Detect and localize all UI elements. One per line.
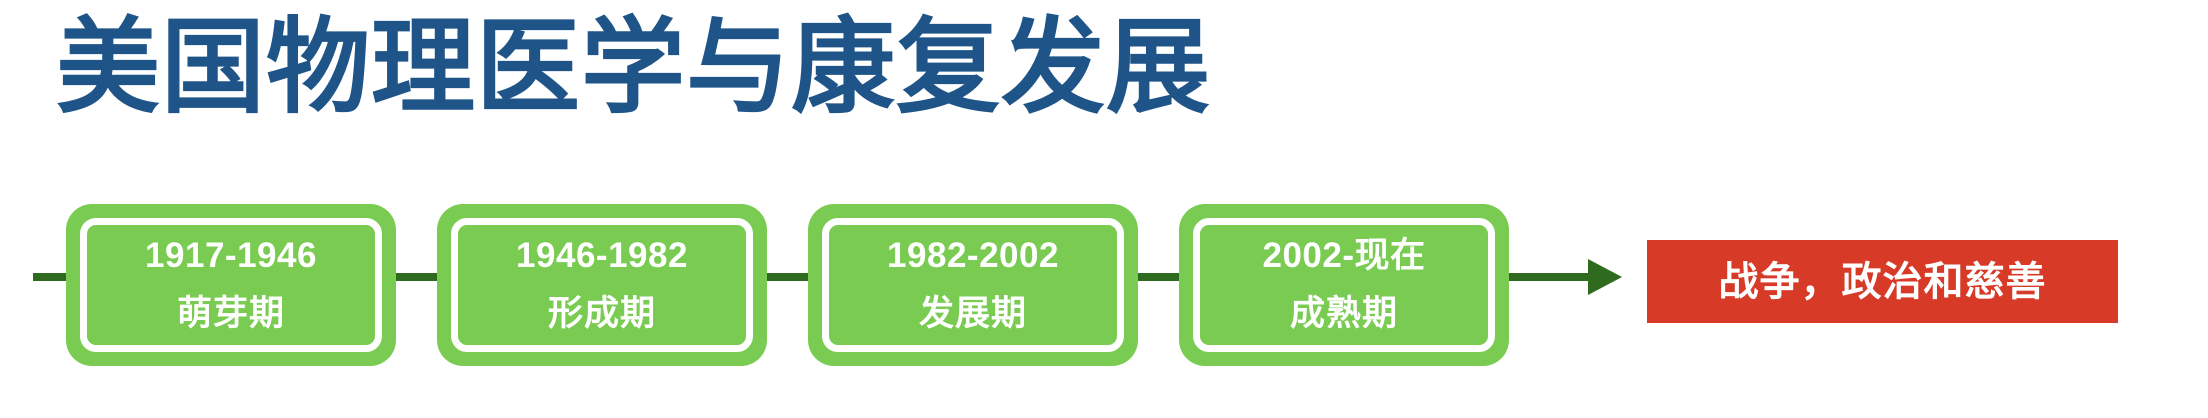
timeline-phase-1[interactable]: 1917-1946 萌芽期 — [66, 204, 396, 366]
timeline-phase-3-name: 发展期 — [919, 291, 1027, 337]
timeline-phase-3[interactable]: 1982-2002 发展期 — [808, 204, 1138, 366]
timeline-arrow-icon — [1588, 259, 1622, 295]
timeline-phase-3-years: 1982-2002 — [887, 233, 1059, 279]
timeline-phase-2-years: 1946-1982 — [516, 233, 688, 279]
timeline-phase-4-inner: 2002-现在 成熟期 — [1193, 218, 1495, 352]
timeline-phase-2-inner: 1946-1982 形成期 — [451, 218, 753, 352]
timeline-phase-1-name: 萌芽期 — [177, 291, 285, 337]
callout-banner-label: 战争，政治和慈善 — [1719, 258, 2047, 306]
page-title: 美国物理医学与康复发展 — [56, 8, 1211, 128]
slide-canvas: 美国物理医学与康复发展 1917-1946 萌芽期 1946-1982 形成期 … — [0, 0, 2208, 418]
timeline-phase-4-years: 2002-现在 — [1262, 233, 1425, 279]
timeline-phase-2[interactable]: 1946-1982 形成期 — [437, 204, 767, 366]
timeline-phase-3-inner: 1982-2002 发展期 — [822, 218, 1124, 352]
timeline-phase-2-name: 形成期 — [548, 291, 656, 337]
timeline-phase-4-name: 成熟期 — [1290, 291, 1398, 337]
timeline-phase-4[interactable]: 2002-现在 成熟期 — [1179, 204, 1509, 366]
timeline-phase-1-inner: 1917-1946 萌芽期 — [80, 218, 382, 352]
callout-banner[interactable]: 战争，政治和慈善 — [1647, 240, 2118, 323]
timeline-phase-1-years: 1917-1946 — [145, 233, 317, 279]
